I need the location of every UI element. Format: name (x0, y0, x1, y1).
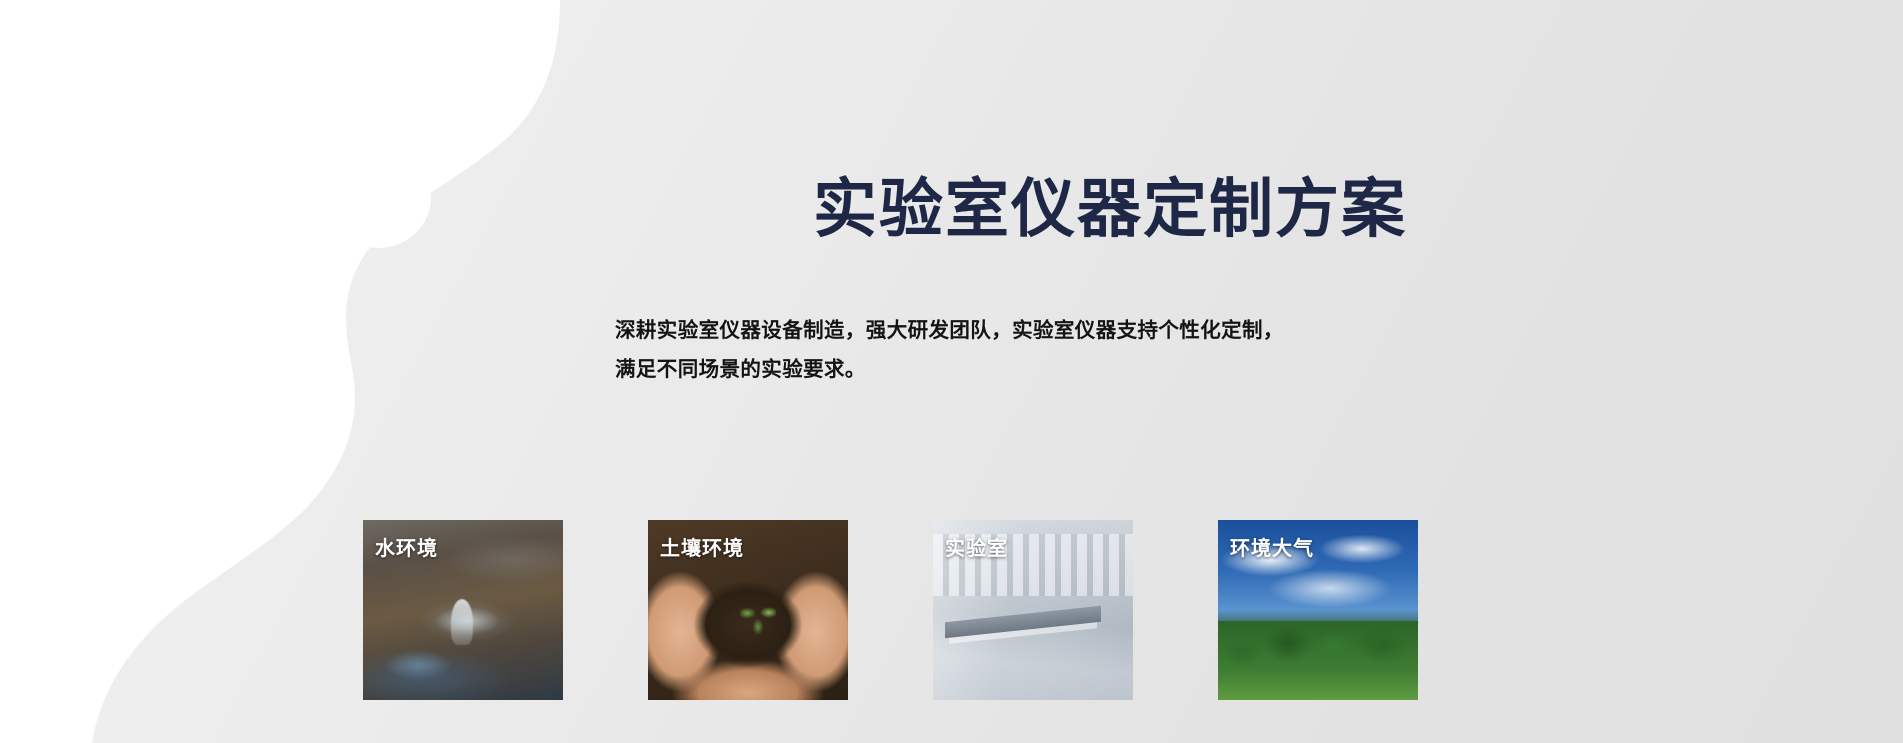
category-card-label: 实验室 (945, 532, 1008, 561)
category-card-atmosphere[interactable]: 环境大气 (1218, 520, 1418, 700)
category-card-label: 土壤环境 (660, 532, 744, 561)
subtitle-line-1: 深耕实验室仪器设备制造，强大研发团队，实验室仪器支持个性化定制， (615, 311, 1415, 351)
decorative-circle-bottom (244, 444, 303, 500)
page-title: 实验室仪器定制方案 (0, 175, 1407, 244)
hero-banner: 实验室仪器定制方案 深耕实验室仪器设备制造，强大研发团队，实验室仪器支持个性化定… (0, 0, 1903, 743)
category-card-label: 环境大气 (1230, 532, 1314, 561)
category-card-laboratory[interactable]: 实验室 (933, 520, 1133, 700)
category-card-soil[interactable]: 土壤环境 (648, 520, 848, 700)
category-card-row: 水环境 土壤环境 实验室 环境大气 (363, 520, 1713, 700)
category-card-water[interactable]: 水环境 (363, 520, 563, 700)
subtitle-line-2: 满足不同场景的实验要求。 (615, 350, 1415, 390)
page-subtitle: 深耕实验室仪器设备制造，强大研发团队，实验室仪器支持个性化定制， 满足不同场景的… (615, 311, 1415, 391)
category-card-label: 水环境 (375, 532, 438, 561)
